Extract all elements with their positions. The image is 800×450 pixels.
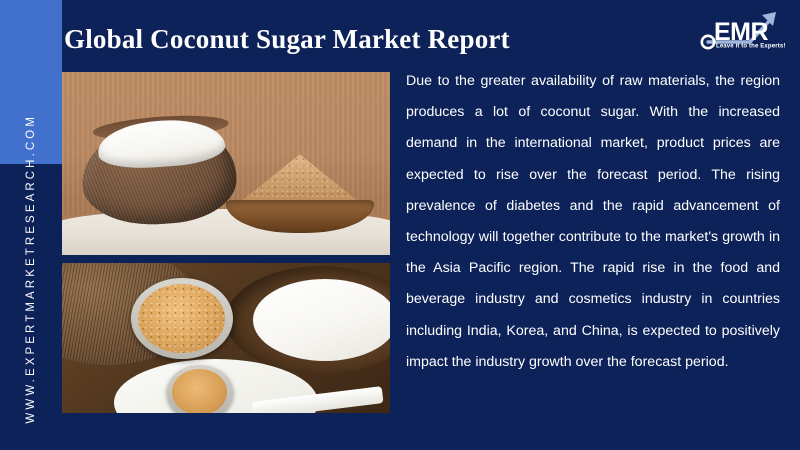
body-paragraph: Due to the greater availability of raw m… (406, 66, 780, 378)
report-body-text: Due to the greater availability of raw m… (406, 66, 780, 378)
accent-block (0, 0, 62, 164)
svg-text:Leave it to the Experts!: Leave it to the Experts! (716, 43, 785, 50)
market-report-poster: WWW.EXPERTMARKETRESEARCH.COM Global Coco… (0, 0, 800, 450)
coconut-sugar-bowl-photo (62, 72, 390, 255)
page-title: Global Coconut Sugar Market Report (64, 22, 664, 56)
coconut-measuring-cups-photo (62, 263, 390, 413)
emr-logo[interactable]: EMR Leave it to the Experts! (688, 4, 792, 50)
